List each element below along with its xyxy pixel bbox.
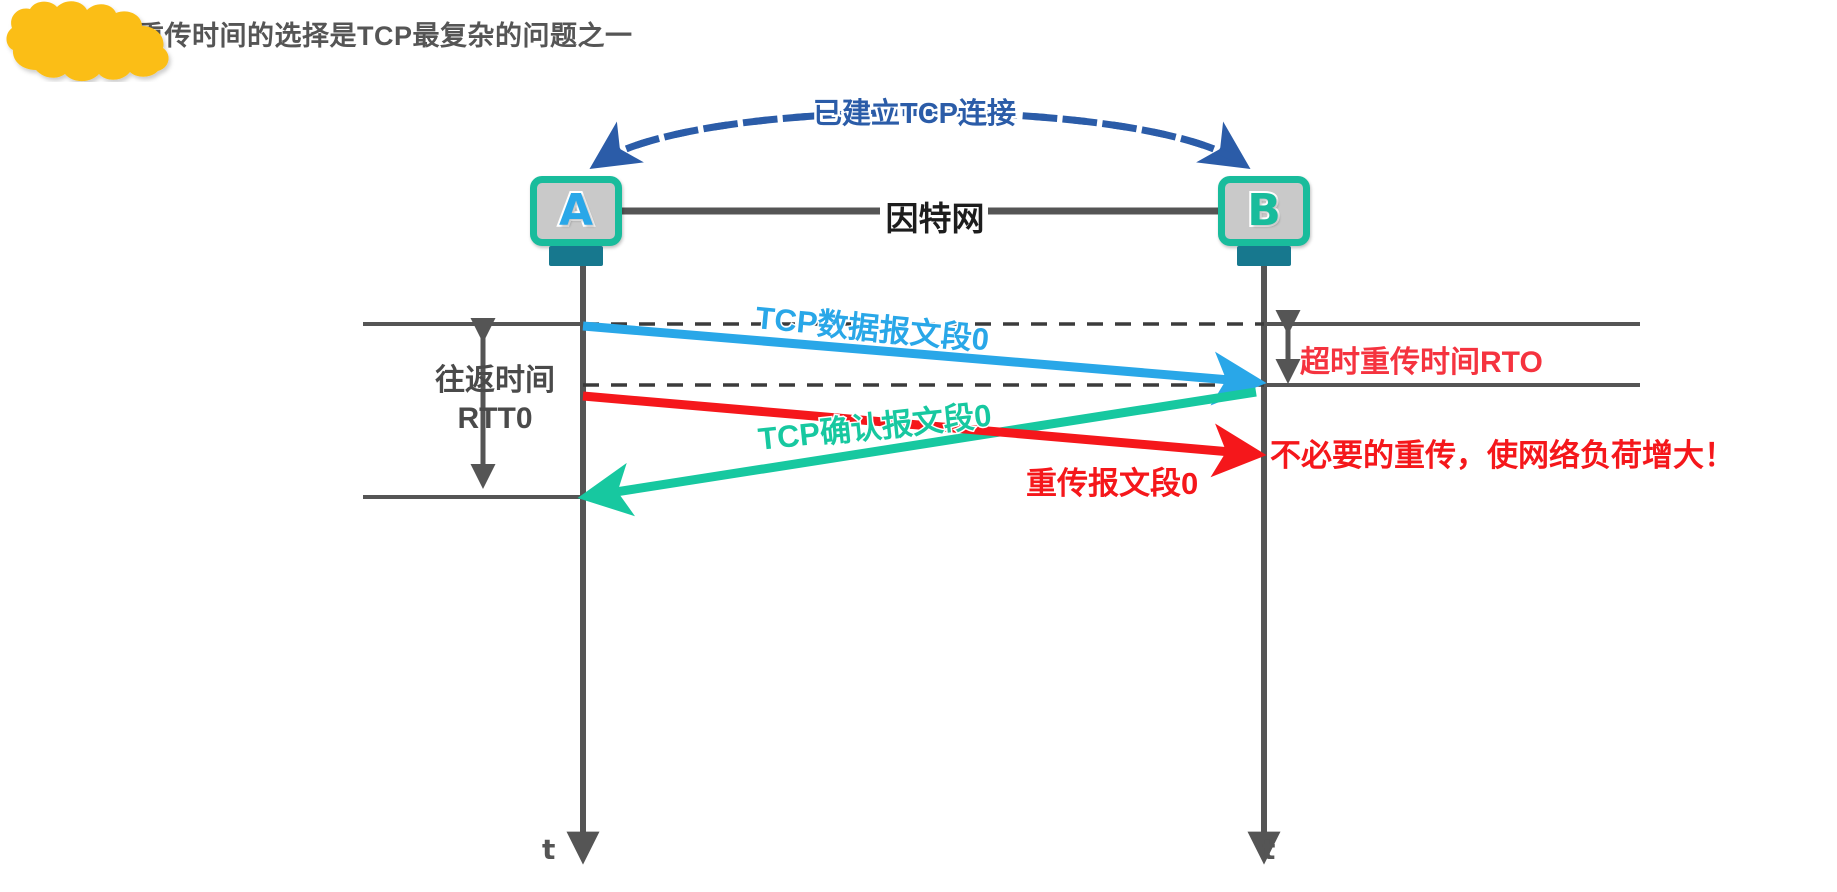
time-axis-label-a: t: [542, 833, 555, 866]
label-warning: 不必要的重传，使网络负荷增大！: [1270, 430, 1735, 475]
internet-cloud-label: 因特网: [845, 192, 1025, 240]
label-rtt-line-1: 往返时间: [400, 362, 590, 400]
label-connection-established: 已建立TCP连接: [813, 90, 1016, 132]
host-b: B: [1218, 176, 1310, 246]
label-rtt-line-2: RTT0: [400, 400, 590, 438]
host-a: A: [530, 176, 622, 246]
host-b-letter: B: [1247, 189, 1281, 233]
time-axis-label-b: t: [1262, 833, 1275, 866]
tcp-retransmission-diagram: 因特网 A B 已建立TCP连接 往返时间 RTT0 超时重传时间RTO TCP…: [0, 0, 1837, 892]
host-b-stand: [1237, 246, 1291, 266]
internet-cloud-icon: [0, 0, 180, 82]
host-a-stand: [549, 246, 603, 266]
label-round-trip-time: 往返时间 RTT0: [400, 362, 590, 437]
label-retransmitted-segment: 重传报文段0: [1026, 458, 1198, 503]
label-rto: 超时重传时间RTO: [1300, 337, 1543, 381]
host-a-letter: A: [559, 189, 593, 233]
